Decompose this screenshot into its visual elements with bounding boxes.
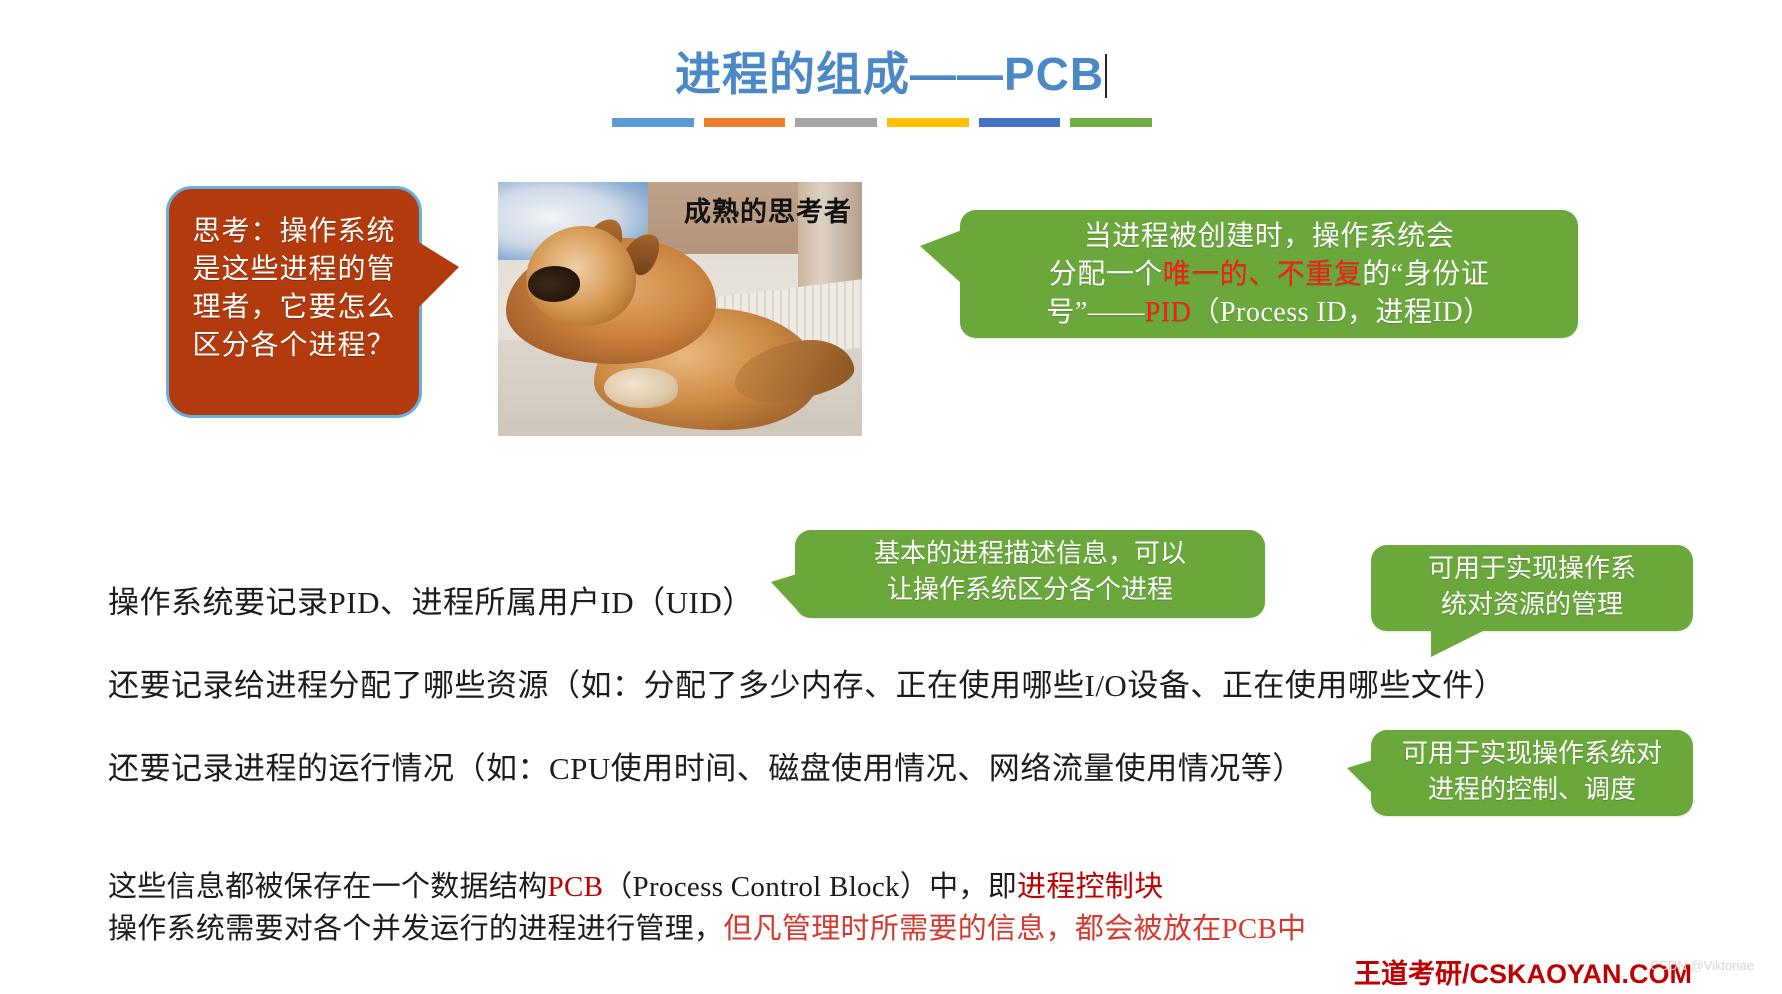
photo-dog-snout: [528, 266, 580, 302]
callout-question-tail: [417, 241, 459, 309]
callout-basic-info-line-1: 基本的进程描述信息，可以: [795, 536, 1265, 572]
summary-line-2: 操作系统需要对各个并发运行的进程进行管理，但凡管理时所需要的信息，都会被放在PC…: [108, 908, 1306, 950]
callout-pid-line-3-emphasis: PID: [1145, 297, 1192, 328]
callout-resource-management-line-1: 可用于实现操作系: [1371, 551, 1693, 587]
callout-pid-line-2-emphasis: 唯一的、不重复: [1163, 259, 1363, 290]
body-line-2: 还要记录给进程分配了哪些资源（如：分配了多少内存、正在使用哪些I/O设备、正在使…: [108, 665, 1505, 707]
callout-basic-info-tail: [771, 574, 797, 610]
callout-resource-management: 可用于实现操作系 统对资源的管理: [1371, 545, 1693, 631]
accent-bar-4: [887, 118, 969, 127]
callout-basic-info: 基本的进程描述信息，可以 让操作系统区分各个进程: [795, 530, 1265, 618]
callout-pid-line-3-a: 号”——: [1046, 297, 1144, 328]
summary-line-2-emphasis: 但凡管理时所需要的信息，都会被放在PCB中: [723, 913, 1306, 945]
callout-question: 思考：操作系统是这些进程的管理者，它要怎么区分各个进程？: [166, 186, 422, 418]
callout-process-control-tail: [1347, 760, 1373, 794]
body-line-1: 操作系统要记录PID、进程所属用户ID（UID）: [108, 582, 754, 624]
photo-dog-paw: [604, 368, 678, 408]
callout-process-control-line-2: 进程的控制、调度: [1371, 772, 1693, 808]
callout-process-control: 可用于实现操作系统对 进程的控制、调度: [1371, 730, 1693, 816]
summary-line-1-a: 这些信息都被保存在一个数据结构: [108, 871, 548, 903]
callout-pid-line-2-a: 分配一个: [1049, 259, 1163, 290]
summary-line-1-b: （Process Control Block）中，即: [603, 871, 1017, 903]
callout-pid-tail: [920, 230, 962, 284]
callout-question-text: 思考：操作系统是这些进程的管理者，它要怎么区分各个进程？: [192, 216, 395, 361]
summary-line-1-emphasis-pcb: PCB: [548, 871, 604, 903]
callout-pid-line-3: 号”——PID（Process ID，进程ID）: [960, 294, 1578, 332]
summary-line-2-a: 操作系统需要对各个并发运行的进程进行管理，: [108, 913, 723, 945]
summary-line-1-emphasis-pcb-cn: 进程控制块: [1017, 871, 1164, 903]
shiba-inu-photo: 成熟的思考者: [498, 182, 862, 436]
callout-pid-line-1: 当进程被创建时，操作系统会: [960, 218, 1578, 256]
accent-bar-3: [795, 118, 877, 127]
callout-basic-info-line-2: 让操作系统区分各个进程: [795, 572, 1265, 608]
page-title: 进程的组成——PCB: [0, 38, 1782, 104]
watermark: CSDN @Viktoriae: [1650, 958, 1754, 973]
summary-line-1: 这些信息都被保存在一个数据结构PCB（Process Control Block…: [108, 866, 1164, 908]
page-title-text: 进程的组成——PCB: [675, 48, 1104, 100]
callout-pid: 当进程被创建时，操作系统会 分配一个唯一的、不重复的“身份证 号”——PID（P…: [960, 210, 1578, 338]
accent-bar-5: [979, 118, 1061, 127]
callout-pid-line-3-b: （Process ID，进程ID）: [1191, 297, 1491, 328]
accent-bar-6: [1070, 118, 1152, 127]
body-line-3: 还要记录进程的运行情况（如：CPU使用时间、磁盘使用情况、网络流量使用情况等）: [108, 748, 1304, 790]
callout-resource-management-line-2: 统对资源的管理: [1371, 587, 1693, 623]
accent-bar-2: [704, 118, 786, 127]
callout-pid-line-2-b: 的“身份证: [1362, 259, 1489, 290]
callout-process-control-line-1: 可用于实现操作系统对: [1371, 736, 1693, 772]
footer-brand: 王道考研/CSKAOYAN.COM: [1354, 952, 1692, 991]
callout-pid-line-2: 分配一个唯一的、不重复的“身份证: [960, 256, 1578, 294]
title-accent-bars: [612, 118, 1152, 127]
photo-caption: 成熟的思考者: [498, 190, 852, 229]
accent-bar-1: [612, 118, 694, 127]
callout-resource-management-tail: [1431, 629, 1487, 657]
text-cursor: [1105, 54, 1107, 98]
slide-canvas: 进程的组成——PCB 思考：操作系统是这些进程的管理者，它要怎么区分各个进程？ …: [0, 0, 1782, 994]
